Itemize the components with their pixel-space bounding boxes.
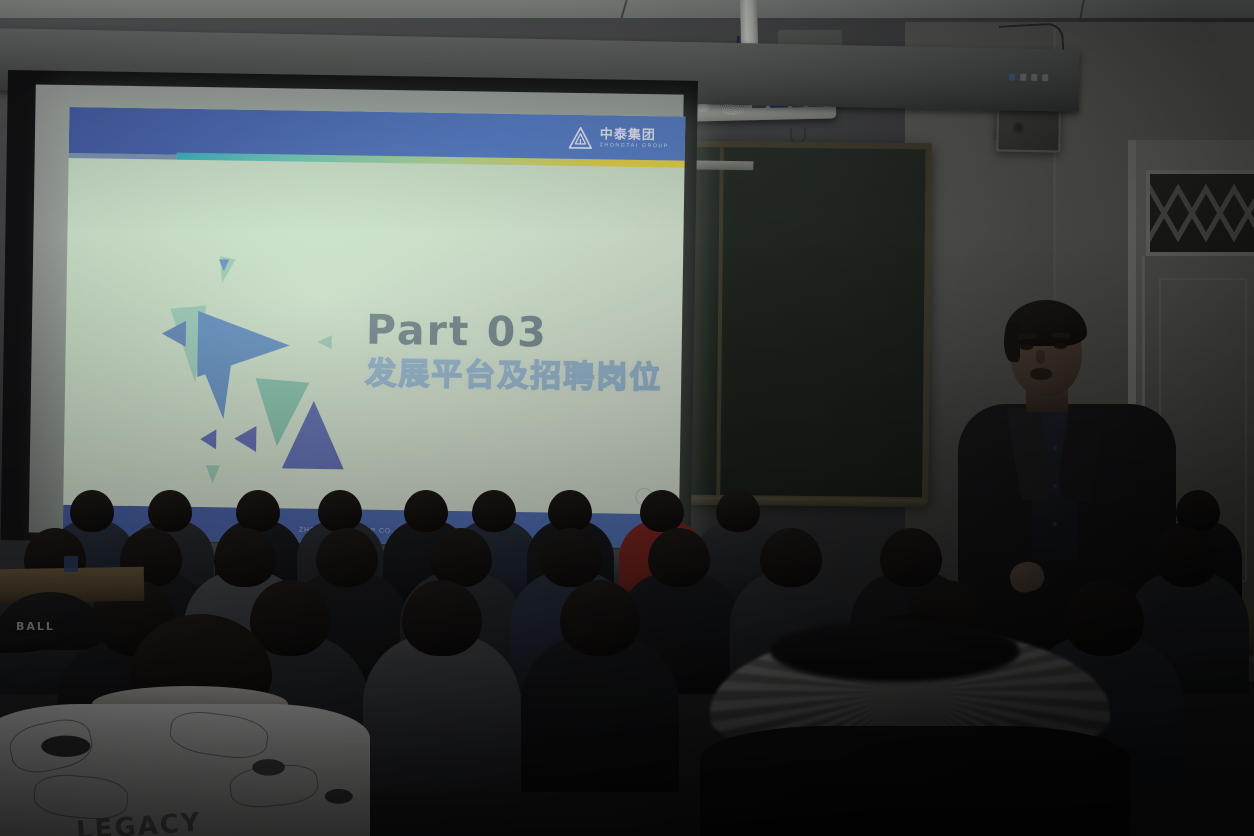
company-logo: 中泰集团 ZHONGTAI GROUP bbox=[566, 123, 669, 155]
lattice-panel bbox=[1178, 174, 1206, 252]
audience-head bbox=[148, 490, 192, 532]
audience-head bbox=[430, 528, 492, 587]
audience-head bbox=[540, 528, 602, 587]
audience-body bbox=[521, 634, 679, 792]
audience-head bbox=[402, 580, 482, 656]
audience-head bbox=[1156, 528, 1218, 587]
audience-head bbox=[760, 528, 822, 587]
audience-body bbox=[363, 634, 521, 792]
tri-mint-tiny-right bbox=[318, 335, 332, 349]
audience-head bbox=[472, 490, 516, 532]
lattice-panel bbox=[1150, 174, 1178, 252]
presenter-nose bbox=[1036, 350, 1045, 364]
slide-title: Part 03 bbox=[366, 310, 664, 356]
audience-head bbox=[648, 528, 710, 587]
jacket-print-motif bbox=[6, 714, 96, 778]
audience-head bbox=[404, 490, 448, 532]
logo-name-en: ZHONGTAI GROUP bbox=[600, 143, 669, 149]
audience-head bbox=[236, 490, 280, 532]
lattice-transom-window bbox=[1146, 170, 1254, 256]
logo-text: 中泰集团 ZHONGTAI GROUP bbox=[600, 128, 670, 150]
audience-head bbox=[548, 490, 592, 532]
slide-subtitle: 发展平台及招聘岗位 bbox=[365, 358, 662, 395]
projector-bracket bbox=[689, 160, 753, 170]
triangle-a-emblem-icon bbox=[567, 124, 594, 151]
desk-item bbox=[64, 556, 78, 572]
audience-head bbox=[316, 528, 378, 587]
indicator-dot bbox=[1031, 74, 1037, 81]
jacket-print-motif bbox=[168, 707, 271, 762]
audience-head bbox=[70, 490, 114, 532]
jacket-print-motif bbox=[228, 762, 320, 811]
tri-blue-left-small bbox=[162, 320, 186, 346]
audience-head bbox=[318, 490, 362, 532]
presenter-hair-side bbox=[1004, 322, 1020, 362]
hood-opening bbox=[770, 620, 1020, 682]
winter-coat bbox=[700, 726, 1130, 836]
slide-header-shadow bbox=[69, 153, 177, 160]
lecture-hall-photo: 中泰集团 ZHONGTAI GROUP Part 03 发展平台及招聘岗位 ZH… bbox=[0, 0, 1254, 836]
audience-head bbox=[640, 490, 684, 532]
lattice-panel bbox=[1234, 174, 1254, 252]
audience-head bbox=[1176, 490, 1220, 532]
indicator-dot bbox=[1009, 73, 1015, 80]
screen-control-indicators bbox=[1009, 72, 1063, 82]
audience-head bbox=[560, 580, 640, 656]
printed-jacket: LEGACY HOUSE bbox=[0, 704, 370, 836]
audience-member-fur-hood bbox=[700, 614, 1130, 836]
audience-head bbox=[880, 528, 942, 587]
audience-member-printed-jacket: LEGACY HOUSE bbox=[0, 620, 370, 836]
audience-head bbox=[716, 490, 760, 532]
presenter-mouth bbox=[1030, 368, 1052, 380]
slide-title-block: Part 03 发展平台及招聘岗位 bbox=[365, 310, 663, 395]
presenter-eye bbox=[1020, 344, 1033, 350]
audience-head bbox=[214, 528, 276, 587]
tri-blue-tiny-top bbox=[219, 259, 229, 271]
speaker-cone bbox=[1013, 122, 1025, 134]
presenter-eye bbox=[1054, 343, 1067, 349]
logo-name-cn: 中泰集团 bbox=[600, 128, 669, 142]
lattice-panel bbox=[1206, 174, 1234, 252]
indicator-dot bbox=[1020, 74, 1026, 81]
indicator-dot bbox=[1042, 74, 1048, 81]
